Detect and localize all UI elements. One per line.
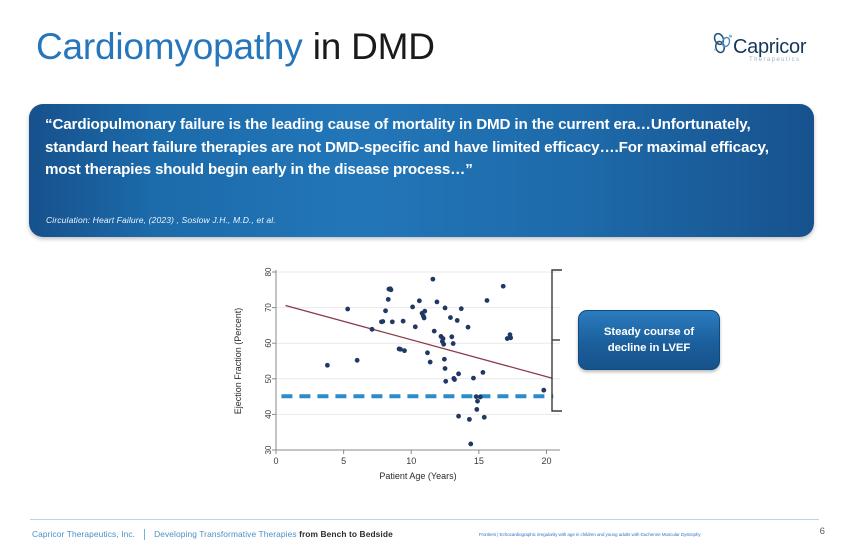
scatter-point xyxy=(455,318,460,323)
y-tick-label: 30 xyxy=(264,445,273,454)
scatter-point xyxy=(467,417,472,422)
y-axis-title: Ejection Fraction (Percent) xyxy=(233,308,243,415)
scatter-point xyxy=(541,388,546,393)
scatter-point xyxy=(402,348,407,353)
scatter-point xyxy=(452,377,457,382)
y-tick-label: 40 xyxy=(264,409,273,418)
scatter-point xyxy=(430,277,435,282)
callout-steady-decline: Steady course of decline in LVEF xyxy=(578,310,720,370)
y-tick-label: 60 xyxy=(264,338,273,347)
scatter-point xyxy=(413,324,418,329)
page-title: Cardiomyopathy in DMD xyxy=(36,26,435,68)
scatter-point xyxy=(475,399,480,404)
y-tick-label: 70 xyxy=(264,303,273,312)
x-tick-label: 0 xyxy=(273,456,278,466)
footer-tagline: Developing Transformative Therapies from… xyxy=(154,529,393,539)
x-tick-label: 5 xyxy=(341,456,346,466)
scatter-point xyxy=(401,319,406,324)
scatter-point xyxy=(345,307,350,312)
scatter-point xyxy=(383,308,388,313)
x-tick-label: 10 xyxy=(406,456,416,466)
scatter-point xyxy=(456,414,461,419)
footer: Capricor Therapeutics, Inc. Developing T… xyxy=(32,524,822,544)
scatter-point xyxy=(485,298,490,303)
scatter-point xyxy=(390,319,395,324)
scatter-point xyxy=(459,306,464,311)
scatter-point xyxy=(325,363,330,368)
scatter-point xyxy=(478,395,483,400)
scatter-point xyxy=(451,341,456,346)
scatter-point xyxy=(370,327,375,332)
scatter-point xyxy=(389,287,394,292)
page-number: 6 xyxy=(820,526,825,537)
scatter-point xyxy=(449,334,454,339)
scatter-point xyxy=(508,335,513,340)
footer-company: Capricor Therapeutics, Inc. xyxy=(32,529,135,539)
scatter-point xyxy=(443,306,448,311)
scatter-point xyxy=(435,300,440,305)
scatter-point xyxy=(481,370,486,375)
quote-citation: Circulation: Heart Failure, (2023) , Sos… xyxy=(46,215,276,225)
callout-text: Steady course of decline in LVEF xyxy=(604,324,694,356)
footer-source-link[interactable]: Frontiers | Echocardiographic irregulari… xyxy=(479,532,701,537)
scatter-point xyxy=(466,325,471,330)
scatter-point xyxy=(422,309,427,314)
x-tick-label: 20 xyxy=(541,456,551,466)
x-tick-label: 15 xyxy=(474,456,484,466)
scatter-point xyxy=(380,319,385,324)
footer-divider xyxy=(30,519,819,520)
scatter-point xyxy=(428,360,433,365)
scatter-point xyxy=(468,442,473,447)
logo-wordmark: Capricor xyxy=(733,36,806,59)
x-axis-title: Patient Age (Years) xyxy=(379,471,456,481)
page-title-primary: Cardiomyopathy xyxy=(36,26,303,67)
scatter-point xyxy=(471,376,476,381)
scatter-point xyxy=(425,350,430,355)
y-tick-label: 80 xyxy=(264,267,273,276)
scatter-point xyxy=(443,379,448,384)
scatter-point xyxy=(410,304,415,309)
footer-tagline-bold: from Bench to Bedside xyxy=(299,529,393,539)
scatter-point xyxy=(442,357,447,362)
y-tick-label: 50 xyxy=(264,374,273,383)
quote-text: “Cardiopulmonary failure is the leading … xyxy=(45,114,794,182)
scatter-point xyxy=(474,394,479,399)
scatter-point xyxy=(417,298,422,303)
scatter-point xyxy=(443,366,448,371)
scatter-point xyxy=(482,415,487,420)
scatter-point xyxy=(432,329,437,334)
scatter-point xyxy=(501,284,506,289)
lvef-scatter-chart: 30405060708005101520Patient Age (Years)E… xyxy=(228,262,568,487)
scatter-point xyxy=(441,336,446,341)
scatter-point xyxy=(474,407,479,412)
scatter-point xyxy=(355,358,360,363)
scatter-point xyxy=(448,315,453,320)
slide-root: Cardiomyopathy in DMD Capricor Therapeut… xyxy=(0,0,849,550)
footer-tagline-light: Developing Transformative Therapies xyxy=(154,529,299,539)
scatter-point xyxy=(441,342,446,347)
logo-tagline: Therapeutics xyxy=(749,57,801,63)
callout-line-1: Steady course of xyxy=(604,326,694,338)
range-bracket xyxy=(548,268,570,414)
scatter-point xyxy=(422,316,427,321)
scatter-point xyxy=(456,371,461,376)
scatter-point xyxy=(386,297,391,302)
capricor-cell-mark-icon xyxy=(711,32,735,58)
scatter-plot-svg: 30405060708005101520Patient Age (Years)E… xyxy=(228,262,568,487)
quote-banner: “Cardiopulmonary failure is the leading … xyxy=(29,104,814,237)
page-title-secondary: in DMD xyxy=(303,26,435,67)
trend-line xyxy=(285,305,551,378)
capricor-logo: Capricor Therapeutics xyxy=(705,30,825,72)
footer-separator xyxy=(144,529,145,540)
callout-line-2: decline in LVEF xyxy=(608,342,690,354)
